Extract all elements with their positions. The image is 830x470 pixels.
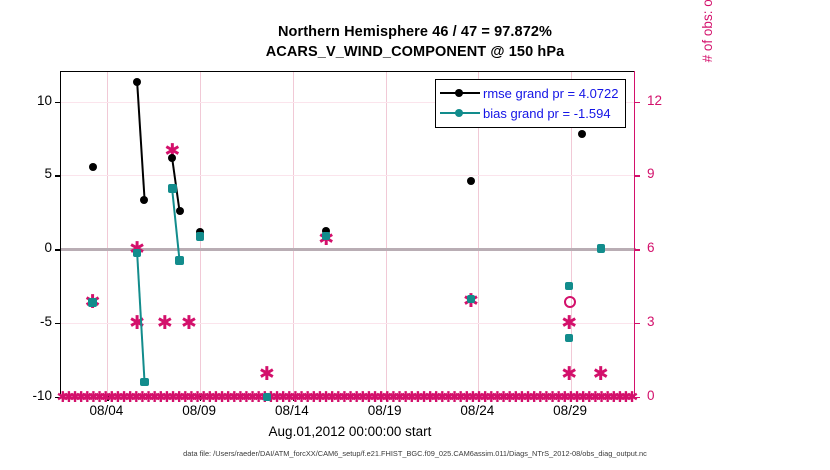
legend-item-rmse: rmse grand pr = 4.0722: [440, 83, 619, 103]
bias-point: [140, 378, 149, 387]
y-tick-left: [55, 323, 61, 324]
y-tick-label-right: 3: [647, 315, 687, 329]
y-tick-label-left: -5: [6, 315, 52, 329]
legend-label-rmse: rmse grand pr = 4.0722: [483, 86, 619, 101]
bias-point: [88, 298, 97, 307]
rmse-point: [467, 177, 475, 185]
rmse-point: [176, 207, 184, 215]
x-tick-label: 08/14: [257, 404, 327, 418]
y-tick-label-right: 12: [647, 94, 687, 108]
y-gridline: [61, 323, 636, 324]
x-tick-label: 08/09: [164, 404, 234, 418]
y-tick-label-left: 10: [6, 94, 52, 108]
rmse-point: [133, 78, 141, 86]
x-gridline: [386, 72, 387, 397]
y-tick-left: [55, 175, 61, 176]
bias-point: [322, 232, 331, 241]
series-line-segment: [136, 82, 146, 200]
bias-point: [263, 393, 272, 402]
bias-point: [467, 295, 476, 304]
y-axis-left-title: rmse and bias (model - observation): [0, 0, 1, 110]
x-tick-label: 08/24: [442, 404, 512, 418]
y-tick-left: [55, 102, 61, 103]
rmse-point: [140, 196, 148, 204]
bias-point: [565, 282, 574, 291]
x-tick-label: 08/19: [350, 404, 420, 418]
y-tick-label-right: 6: [647, 241, 687, 255]
x-gridline: [107, 72, 108, 397]
y-axis-right-spine: [634, 71, 635, 398]
y-tick-label-left: -10: [6, 389, 52, 403]
legend-item-bias: bias grand pr = -1.594: [440, 103, 619, 123]
x-tick-label: 08/29: [535, 404, 605, 418]
bias-point: [175, 256, 184, 265]
legend-label-bias: bias grand pr = -1.594: [483, 106, 611, 121]
y-tick-label-left: 0: [6, 241, 52, 255]
data-file-path: data file: /Users/raeder/DAI/ATM_forcXX/…: [0, 449, 830, 458]
plot-area: ✱✱✱✱✱✱✱✱✱✱✱✱✱✱✱✱✱✱✱✱✱✱✱✱✱✱✱✱✱✱✱✱✱✱✱✱✱✱✱✱…: [60, 71, 635, 396]
legend-swatch-rmse: [440, 86, 480, 100]
y-tick-label-left: 5: [6, 167, 52, 181]
bias-point: [168, 184, 177, 193]
y-axis-right-title: # of obs: o=possible; ∗=assimilated: [700, 0, 716, 100]
x-tick-label: 08/04: [71, 404, 141, 418]
y-gridline: [61, 175, 636, 176]
y-tick-label-right: 0: [647, 389, 687, 403]
bias-point: [565, 334, 574, 343]
y-tick-left: [55, 249, 61, 250]
legend-swatch-bias: [440, 106, 480, 120]
legend: rmse grand pr = 4.0722 bias grand pr = -…: [435, 79, 626, 128]
bias-point: [133, 249, 142, 258]
bias-point: [597, 244, 606, 253]
rmse-point: [89, 163, 97, 171]
rmse-point: [578, 130, 586, 138]
x-axis-title: Aug.01,2012 00:00:00 start: [0, 424, 700, 439]
rmse-point: [168, 154, 176, 162]
bias-point: [196, 232, 205, 241]
y-tick-label-right: 9: [647, 167, 687, 181]
zero-reference-line: [61, 248, 636, 251]
x-gridline: [293, 72, 294, 397]
possible-obs-marker: [564, 296, 576, 308]
